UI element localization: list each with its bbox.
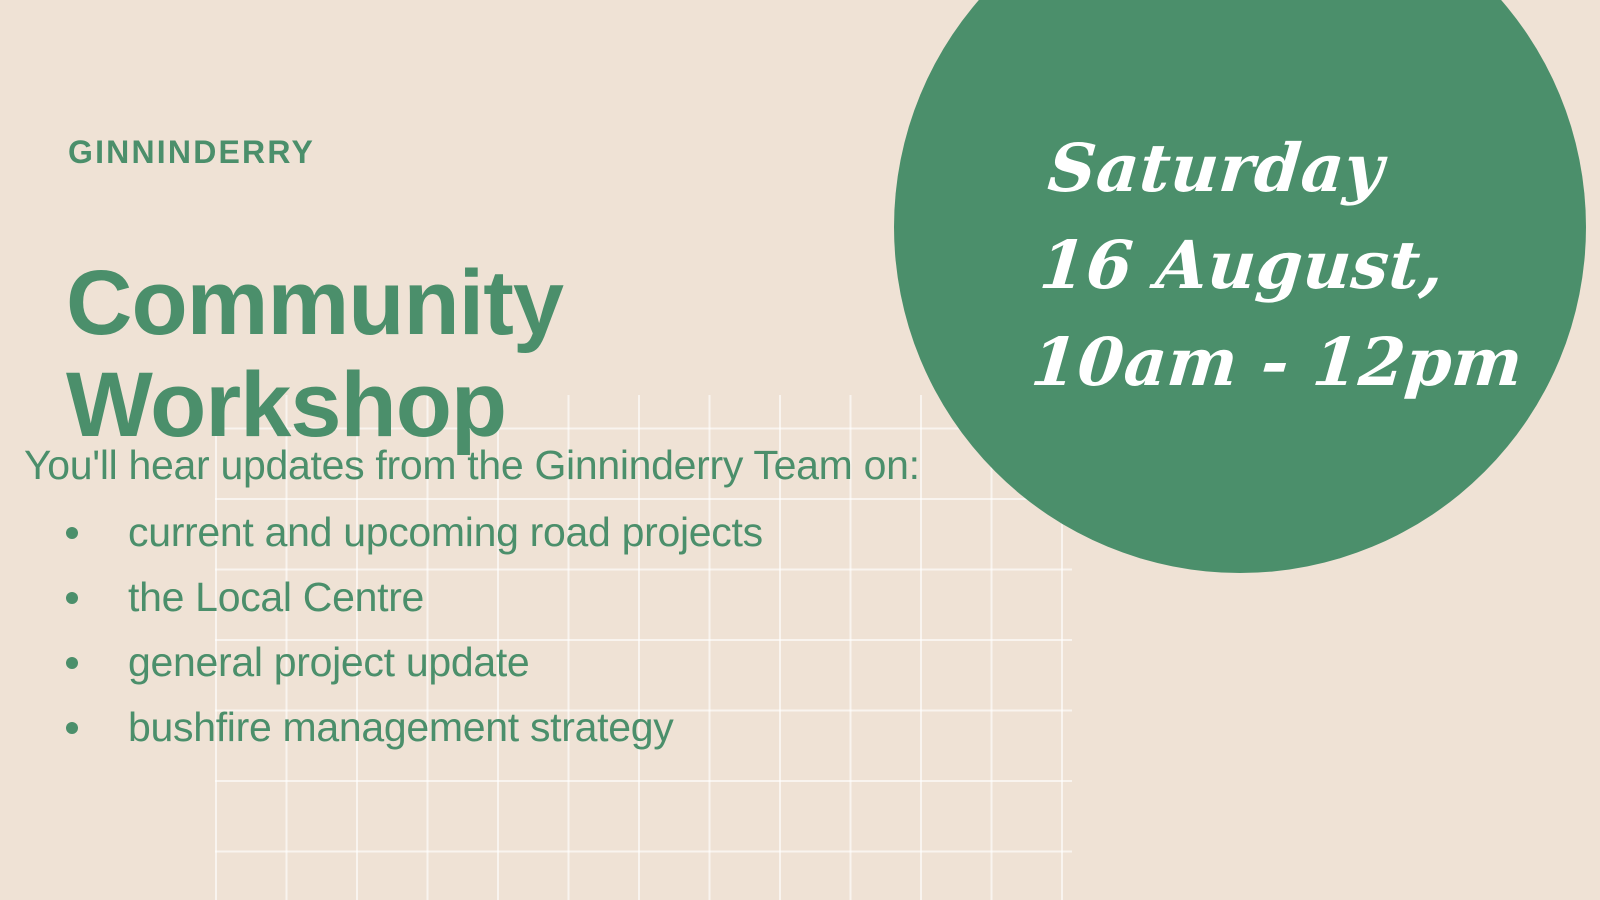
list-item: current and upcoming road projects [24, 500, 1024, 565]
page-title: Community Workshop [66, 252, 866, 456]
intro-text: You'll hear updates from the Ginninderry… [24, 437, 920, 493]
bullet-dot-icon [66, 657, 78, 669]
brand-eyebrow: GINNINDERRY [68, 132, 315, 172]
list-item-label: bushfire management strategy [128, 704, 673, 750]
list-item-label: the Local Centre [128, 574, 424, 620]
bullet-dot-icon [66, 722, 78, 734]
list-item: general project update [24, 630, 1024, 695]
bullet-dot-icon [66, 592, 78, 604]
list-item: bushfire management strategy [24, 695, 1024, 760]
event-date-block: Saturday 16 August, 10am - 12pm [1027, 120, 1482, 411]
event-date: 16 August, [1036, 217, 1474, 314]
topics-list: current and upcoming road projects the L… [24, 500, 1024, 760]
poster-canvas: Saturday 16 August, 10am - 12pm GINNINDE… [0, 0, 1600, 900]
page-title-line-1: Community [66, 252, 866, 354]
list-item: the Local Centre [24, 565, 1024, 630]
bullet-dot-icon [66, 527, 78, 539]
event-time: 10am - 12pm [1027, 314, 1465, 411]
list-item-label: general project update [128, 639, 529, 685]
list-item-label: current and upcoming road projects [128, 509, 763, 555]
event-day: Saturday [1044, 120, 1482, 217]
